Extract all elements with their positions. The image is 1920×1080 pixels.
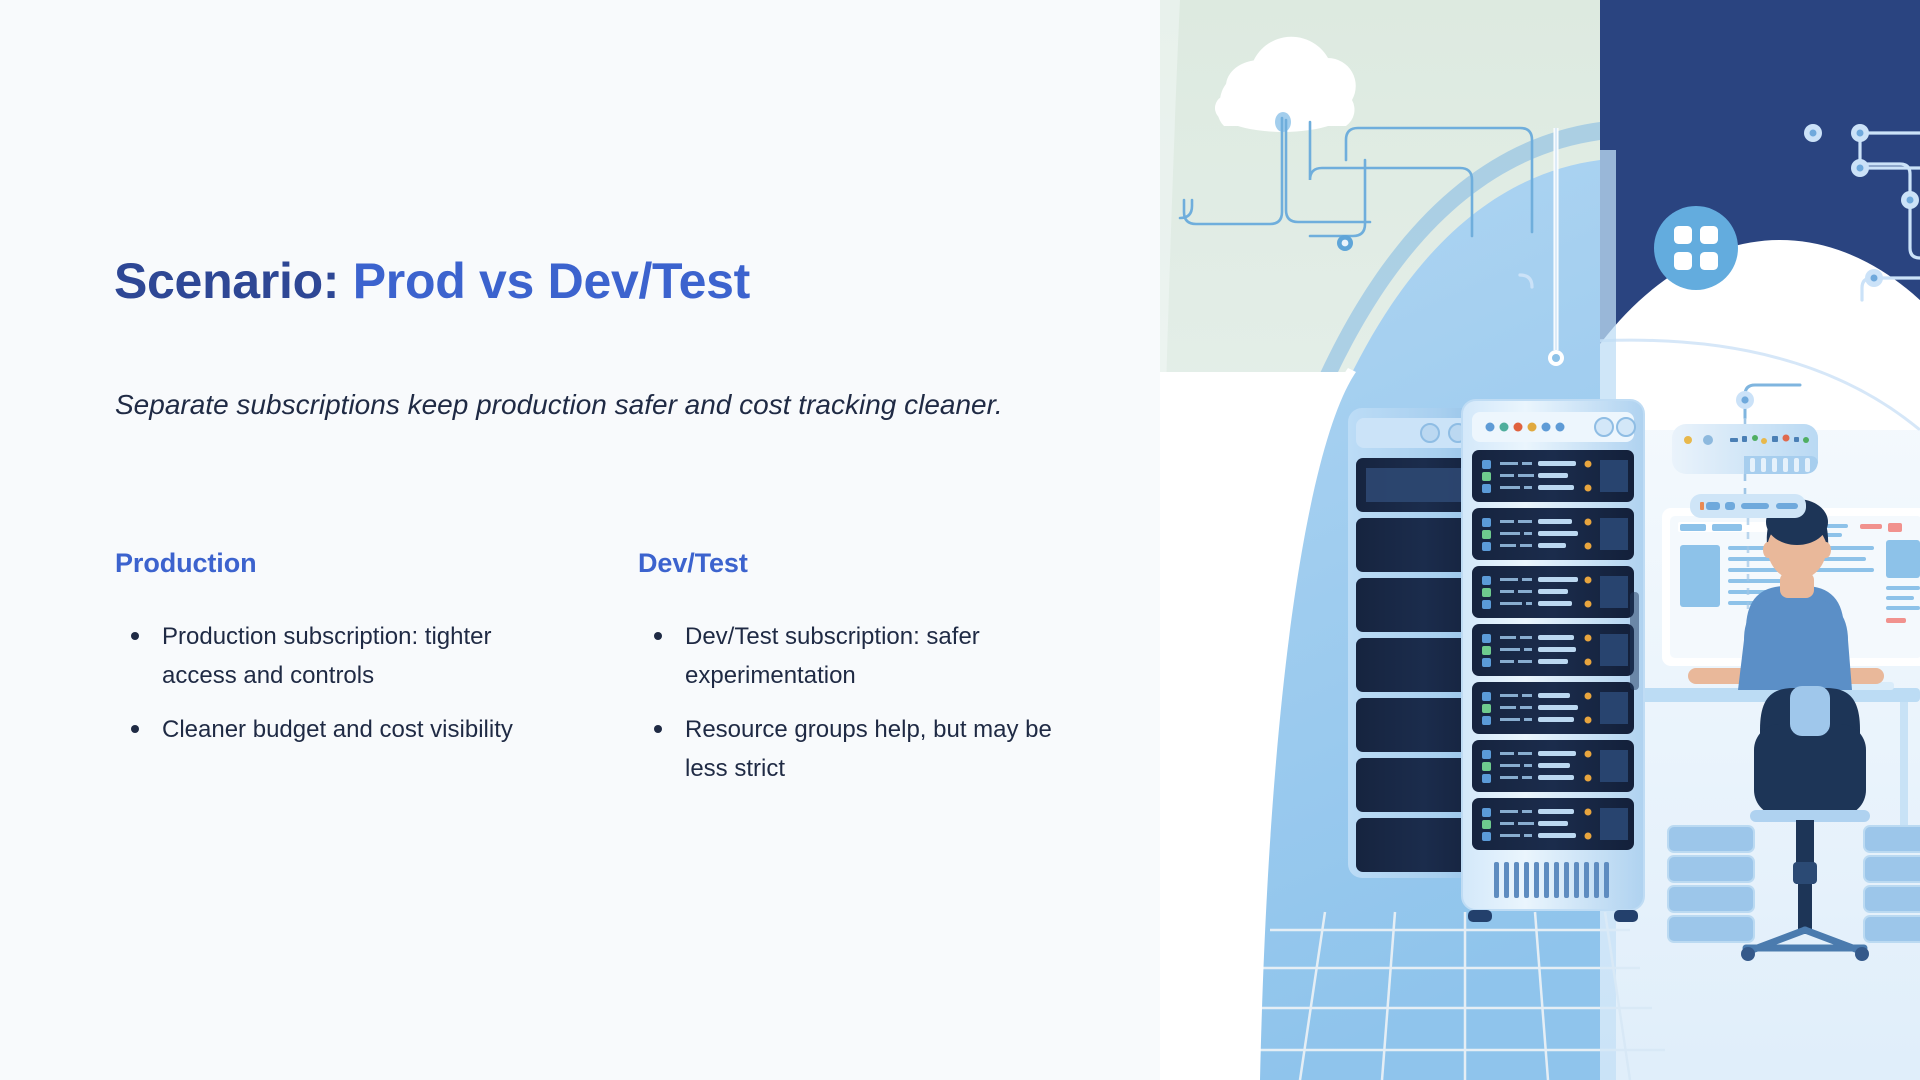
list-item-label: Dev/Test subscription: safer experimenta… <box>685 623 980 689</box>
slide-content: Scenario: Prod vs Dev/Test Separate subs… <box>114 0 1174 1080</box>
grid-badge-icon <box>1654 206 1738 290</box>
bullet-dot-icon <box>654 632 662 640</box>
bullet-dot-icon <box>131 725 139 733</box>
column-devtest: Dev/Test Dev/Test subscription: safer ex… <box>638 548 1088 804</box>
column-heading-production: Production <box>115 548 565 579</box>
bullet-dot-icon <box>131 632 139 640</box>
server-rack-main <box>1462 400 1644 922</box>
list-item-label: Cleaner budget and cost visibility <box>162 716 513 743</box>
bullet-dot-icon <box>654 725 662 733</box>
slide-root: Scenario: Prod vs Dev/Test Separate subs… <box>0 0 1920 1080</box>
list-item: Cleaner budget and cost visibility <box>115 711 535 750</box>
page-title-prefix: Scenario: <box>114 253 353 309</box>
page-title-emphasis: Prod vs Dev/Test <box>353 253 750 309</box>
column-heading-devtest: Dev/Test <box>638 548 1088 579</box>
bullet-list-devtest: Dev/Test subscription: safer experimenta… <box>638 618 1088 789</box>
rack-main-blades <box>1472 450 1634 850</box>
list-item: Dev/Test subscription: safer experimenta… <box>638 618 1058 696</box>
page-title: Scenario: Prod vs Dev/Test <box>114 254 750 309</box>
circuit-node-core <box>1342 240 1349 247</box>
list-item: Resource groups help, but may be less st… <box>638 711 1058 789</box>
list-item: Production subscription: tighter access … <box>115 618 535 696</box>
subtitle: Separate subscriptions keep production s… <box>115 382 1075 427</box>
list-item-label: Production subscription: tighter access … <box>162 623 492 689</box>
bullet-list-production: Production subscription: tighter access … <box>115 618 565 750</box>
list-item-label: Resource groups help, but may be less st… <box>685 716 1052 782</box>
illustration <box>1160 0 1920 1080</box>
column-production: Production Production subscription: tigh… <box>115 548 565 765</box>
